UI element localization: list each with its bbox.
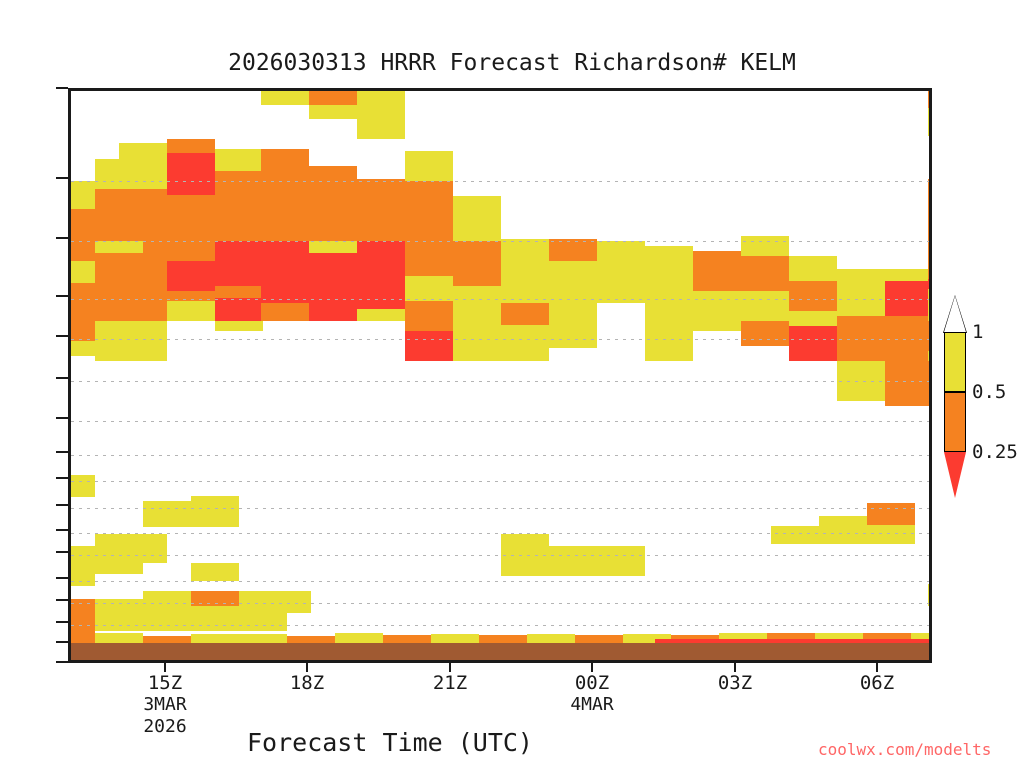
gridline-350 xyxy=(71,299,929,300)
y-tick-mark-450 xyxy=(56,377,68,379)
y-tick-mark-400 xyxy=(56,335,68,337)
heatmap-cell xyxy=(867,503,915,525)
heatmap-cell xyxy=(95,633,143,643)
heatmap-cell xyxy=(928,91,932,108)
y-tick-mark-850 xyxy=(56,599,68,601)
y-tick-mark-750 xyxy=(56,551,68,553)
terrain-band xyxy=(71,643,929,663)
heatmap-cell xyxy=(261,241,309,303)
x-tick-time: 06Z xyxy=(860,672,894,694)
y-tick-mark-950 xyxy=(56,641,68,643)
colorbar-below-min-arrow xyxy=(944,452,966,498)
colorbar-label-0.5: 0.5 xyxy=(972,381,1006,403)
heatmap-cell xyxy=(167,153,215,195)
y-tick-mark-300 xyxy=(56,237,68,239)
heatmap-cell xyxy=(357,179,405,241)
heatmap-cell xyxy=(261,149,309,241)
x-tick-label-06Z: 06Z xyxy=(860,672,894,694)
heatmap-cell xyxy=(71,346,95,356)
heatmap-cell xyxy=(405,181,453,241)
heatmap-cell xyxy=(167,139,215,153)
heatmap-cell xyxy=(789,281,837,311)
colorbar-label-0.25: 0.25 xyxy=(972,441,1018,463)
heatmap-cell xyxy=(575,635,623,643)
heatmap-cell xyxy=(191,496,239,527)
y-tick-mark-350 xyxy=(56,295,68,297)
heatmap-cell xyxy=(789,256,837,281)
heatmap-cell xyxy=(867,525,915,544)
heatmap-cell xyxy=(597,546,645,576)
heatmap-cell xyxy=(357,309,405,321)
x-tick-time: 03Z xyxy=(718,672,752,694)
x-tick-date: 4MAR xyxy=(570,694,613,716)
heatmap-cell xyxy=(741,291,789,321)
x-tick-mark-21Z xyxy=(449,663,451,672)
heatmap-cell xyxy=(191,634,239,643)
y-tick-mark-1000 xyxy=(56,661,68,663)
gridline-400 xyxy=(71,339,929,340)
heatmap-cell xyxy=(167,195,215,241)
x-tick-time: 00Z xyxy=(575,672,609,694)
x-tick-label-21Z: 21Z xyxy=(433,672,467,694)
heatmap-cell xyxy=(383,635,431,643)
x-tick-label-03Z: 03Z xyxy=(718,672,752,694)
gridline-750 xyxy=(71,555,929,556)
heatmap-cell xyxy=(335,633,383,643)
heatmap-cells xyxy=(71,91,929,660)
heatmap-cell xyxy=(885,361,932,406)
heatmap-cell xyxy=(928,179,932,279)
heatmap-cell xyxy=(143,563,191,575)
y-tick-mark-900 xyxy=(56,621,68,623)
heatmap-cell xyxy=(119,189,167,241)
y-tick-mark-800 xyxy=(56,577,68,579)
x-tick-time: 21Z xyxy=(433,672,467,694)
heatmap-cell xyxy=(549,239,597,261)
colorbar-segment-yellow xyxy=(944,332,966,392)
heatmap-cell xyxy=(885,269,932,281)
colorbar[interactable]: 1 0.5 0.25 xyxy=(944,332,966,452)
y-tick-mark-700 xyxy=(56,529,68,531)
x-tick-label-18Z: 18Z xyxy=(290,672,324,694)
heatmap-cell xyxy=(837,269,885,291)
heatmap-cell xyxy=(95,241,143,253)
heatmap-cell xyxy=(549,306,597,348)
heatmap-cell xyxy=(309,253,357,321)
heatmap-cell xyxy=(549,546,597,576)
heatmap-cell xyxy=(431,634,479,643)
heatmap-cell xyxy=(597,241,645,303)
colorbar-segment-orange xyxy=(944,392,966,452)
heatmap-cell xyxy=(261,91,309,105)
heatmap-cell xyxy=(71,283,95,341)
gridline-850 xyxy=(71,603,929,604)
heatmap-cell xyxy=(71,261,95,283)
heatmap-cell xyxy=(527,634,575,643)
heatmap-cell xyxy=(215,149,263,171)
heatmap-cell xyxy=(71,241,95,261)
y-tick-mark-550 xyxy=(56,451,68,453)
heatmap-cell xyxy=(741,236,789,256)
x-tick-mark-06Z xyxy=(876,663,878,672)
heatmap-plot-area[interactable] xyxy=(68,88,932,663)
x-axis-label: Forecast Time (UTC) xyxy=(0,728,780,757)
heatmap-cell xyxy=(405,331,453,361)
heatmap-cell xyxy=(215,241,263,286)
heatmap-cell xyxy=(71,181,95,209)
heatmap-cell xyxy=(143,241,167,321)
heatmap-cell xyxy=(239,634,287,643)
heatmap-cell xyxy=(287,636,335,643)
heatmap-cell xyxy=(789,326,837,361)
heatmap-cell xyxy=(143,321,167,361)
heatmap-cell xyxy=(771,526,819,544)
heatmap-cell xyxy=(309,166,357,241)
gridline-900 xyxy=(71,625,929,626)
heatmap-cell xyxy=(71,633,95,643)
gridline-500 xyxy=(71,421,929,422)
heatmap-cell xyxy=(453,196,501,241)
heatmap-cell xyxy=(215,298,263,321)
x-tick-mark-15Z xyxy=(164,663,166,672)
heatmap-cell xyxy=(167,241,215,261)
heatmap-cell xyxy=(95,321,143,361)
y-tick-mark-250 xyxy=(56,177,68,179)
heatmap-cell xyxy=(405,276,453,301)
x-tick-mark-03Z xyxy=(734,663,736,672)
heatmap-cell xyxy=(645,246,693,306)
heatmap-cell xyxy=(119,143,167,189)
watermark: coolwx.com/modelts xyxy=(818,740,991,759)
gridline-650 xyxy=(71,508,929,509)
heatmap-cell xyxy=(261,303,309,321)
gridline-600 xyxy=(71,481,929,482)
x-tick-date: 3MAR xyxy=(143,694,186,716)
colorbar-above-max-fill xyxy=(944,296,966,332)
heatmap-cell xyxy=(819,516,867,544)
x-tick-label-00Z: 00Z4MAR xyxy=(570,672,613,716)
heatmap-cell xyxy=(191,606,239,631)
heatmap-cell xyxy=(95,534,143,574)
heatmap-cell xyxy=(741,256,789,291)
heatmap-cell xyxy=(928,108,932,136)
heatmap-cell xyxy=(501,303,549,325)
heatmap-cell xyxy=(215,321,263,331)
x-tick-mark-18Z xyxy=(306,663,308,672)
heatmap-cell xyxy=(191,563,239,581)
heatmap-cell xyxy=(405,241,453,276)
heatmap-cell xyxy=(693,291,741,331)
heatmap-cell xyxy=(143,501,191,527)
x-tick-time: 18Z xyxy=(290,672,324,694)
heatmap-cell xyxy=(215,286,263,298)
heatmap-cell xyxy=(928,289,932,321)
heatmap-cell xyxy=(453,241,501,286)
gridline-800 xyxy=(71,581,929,582)
heatmap-cell xyxy=(789,311,837,326)
heatmap-cell xyxy=(405,151,453,181)
heatmap-cell xyxy=(167,261,215,291)
gridline-250 xyxy=(71,181,929,182)
heatmap-cell xyxy=(95,253,143,321)
heatmap-cell xyxy=(309,241,357,253)
heatmap-cell xyxy=(357,91,405,139)
heatmap-cell xyxy=(453,286,501,361)
heatmap-cell xyxy=(71,599,95,633)
x-tick-time: 15Z xyxy=(148,672,182,694)
heatmap-cell xyxy=(309,105,357,119)
heatmap-cell xyxy=(928,279,932,289)
heatmap-cell xyxy=(167,301,215,321)
colorbar-label-1: 1 xyxy=(972,321,983,343)
gridline-300 xyxy=(71,241,929,242)
heatmap-cell xyxy=(287,591,311,613)
heatmap-cell xyxy=(645,306,693,361)
heatmap-cell xyxy=(741,321,789,346)
y-tick-mark-650 xyxy=(56,504,68,506)
y-tick-mark-500 xyxy=(56,417,68,419)
heatmap-cell xyxy=(71,475,95,497)
y-tick-mark-200 xyxy=(56,87,68,89)
heatmap-cell xyxy=(693,251,741,291)
y-tick-mark-600 xyxy=(56,477,68,479)
heatmap-cell xyxy=(479,635,527,643)
x-tick-mark-00Z xyxy=(591,663,593,672)
heatmap-cell xyxy=(837,291,885,316)
gridline-700 xyxy=(71,533,929,534)
gridline-450 xyxy=(71,381,929,382)
heatmap-cell xyxy=(309,91,357,105)
heatmap-cell xyxy=(71,574,95,586)
page-title: 2026030313 HRRR Forecast Richardson# KEL… xyxy=(0,50,1024,76)
gridline-550 xyxy=(71,455,929,456)
heatmap-cell xyxy=(405,301,453,331)
